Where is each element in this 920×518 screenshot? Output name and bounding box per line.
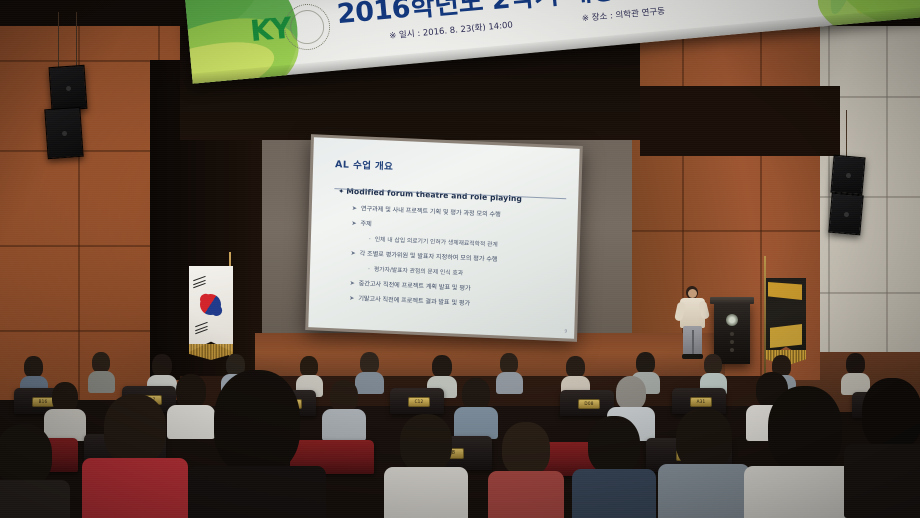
- slide-sub-bullet-text: 주제: [360, 220, 371, 227]
- slide-nested-item: ·인체 내 삽입 의료기기 인허가 생체재료적학적 관계: [369, 234, 565, 252]
- arrow-bullet-icon: ➤: [352, 205, 357, 212]
- arrow-bullet-icon: ➤: [349, 295, 354, 302]
- flag-gold-band-bottom: [770, 324, 802, 348]
- presentation-slide: AL 수업 개요 ✦Modified forum theatre and rol…: [308, 137, 579, 339]
- audience-seating-area: B16 B17 C11 C12 D08 A31 B22: [0, 352, 920, 518]
- podium-emblem-icon: [726, 314, 738, 326]
- slide-nested-item-text: 평가자/발표자 관점의 문제 인식 효과: [374, 267, 463, 277]
- arrow-bullet-icon: ➤: [350, 280, 355, 287]
- slide-sub-bullet-text: 각 조별로 평가위원 및 발표자 지정하여 모의 평가 수행: [359, 250, 497, 263]
- auditorium-photo: KY 2016학년도 2학기 개강 교수 학습 성과 보고회 ※ 일시 : 20…: [0, 0, 920, 518]
- slide-page-number: 9: [564, 329, 567, 334]
- podium-top: [710, 297, 754, 304]
- logo-text: KY: [249, 11, 291, 48]
- seat-number-plate: D08: [578, 399, 600, 409]
- seat-back[interactable]: D08: [560, 390, 614, 416]
- ceiling-speaker-right: [824, 150, 880, 270]
- seat-back[interactable]: C12: [390, 388, 444, 414]
- slide-sub-bullet-text: 연구과제 및 사내 프로젝트 기획 및 평가 과정 모의 수행: [361, 205, 501, 218]
- arrow-bullet-icon: ➤: [351, 220, 356, 227]
- ky-university-logo: KY: [248, 1, 330, 60]
- slide-body: ✦Modified forum theatre and role playing…: [335, 186, 566, 311]
- screen-surface: AL 수업 개요 ✦Modified forum theatre and rol…: [308, 137, 579, 339]
- seat-number-plate: B16: [32, 397, 54, 407]
- slide-sub-bullet: ➤기말고사 직전에 프로젝트 결과 발표 및 평가: [349, 293, 563, 311]
- slide-nested-item-text: 인체 내 삽입 의료기기 인허가 생체재료적학적 관계: [375, 237, 498, 248]
- seat-number-plate: A31: [690, 397, 712, 407]
- arrow-bullet-icon: ➤: [350, 250, 355, 257]
- slide-title: AL 수업 개요: [335, 156, 567, 180]
- slide-sub-bullet-text: 기말고사 직전에 프로젝트 결과 발표 및 평가: [358, 295, 470, 307]
- presenter-face: [688, 289, 697, 298]
- seat-number-plate: C12: [408, 397, 430, 407]
- slide-nested-item: ·평가자/발표자 관점의 문제 인식 효과: [368, 264, 564, 282]
- dot-bullet-icon: ·: [369, 237, 371, 243]
- slide-sub-bullet-text: 중간고사 직전에 프로젝트 계획 발표 및 평가: [359, 280, 471, 292]
- presenter-person: [676, 286, 710, 362]
- dot-bullet-icon: ·: [368, 267, 370, 273]
- upper-dark-right: [640, 86, 840, 156]
- projection-screen: AL 수업 개요 ✦Modified forum theatre and rol…: [305, 134, 583, 342]
- ceiling-speaker-left: [40, 12, 100, 162]
